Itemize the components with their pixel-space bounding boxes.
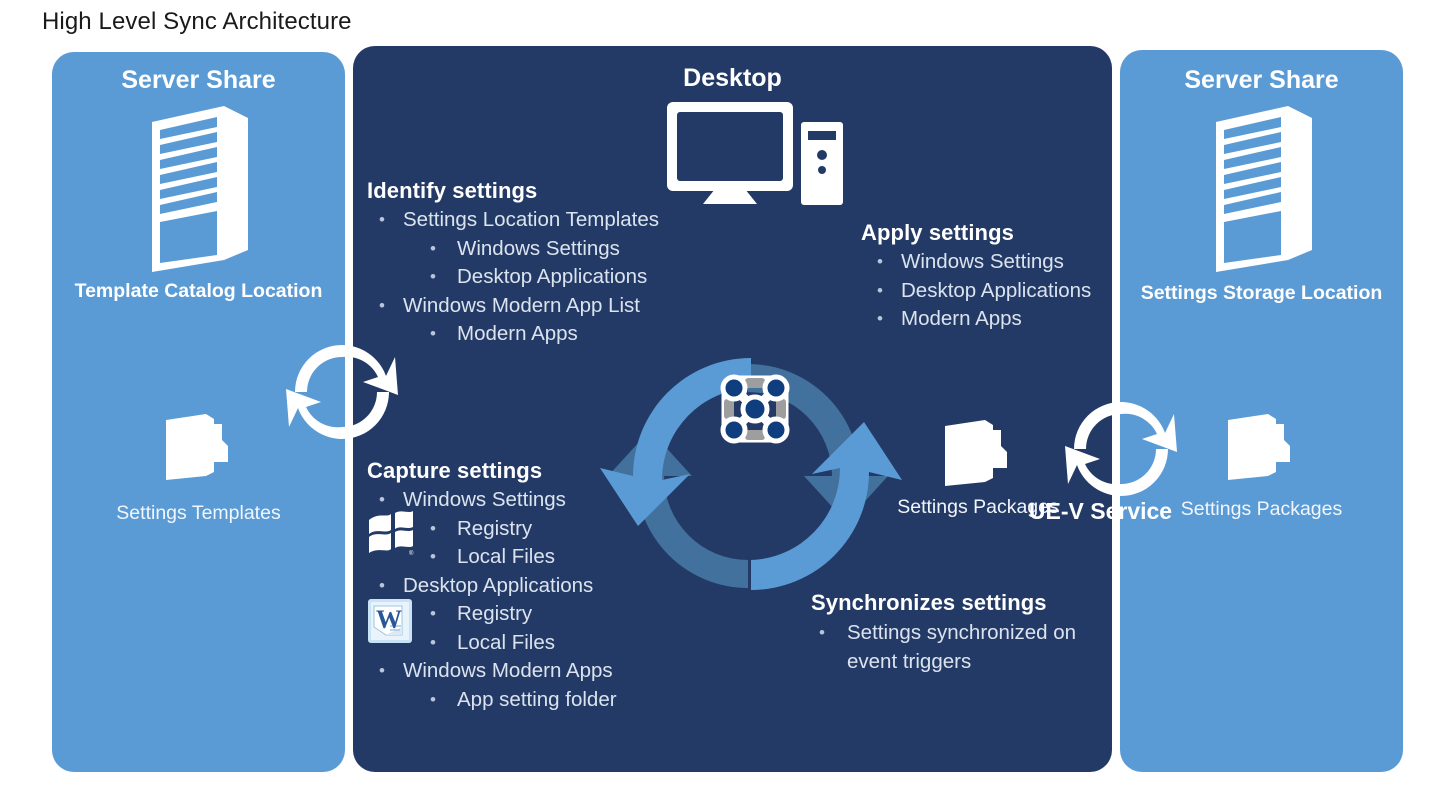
list-item: Modern Apps	[367, 320, 659, 349]
list-item: Desktop Applications	[861, 277, 1091, 306]
list-item: Registry	[367, 600, 617, 629]
block-identify-settings: Identify settings Settings Location Temp…	[367, 178, 659, 349]
block-heading: Identify settings	[367, 178, 659, 204]
left-server-caption: Template Catalog Location	[52, 280, 345, 303]
left-panel-title: Server Share	[52, 66, 345, 95]
block-list: Windows Settings Desktop Applications Mo…	[861, 248, 1091, 334]
block-heading: Apply settings	[861, 220, 1091, 246]
folder-icon	[162, 410, 238, 489]
list-item: Windows Modern Apps	[367, 657, 617, 686]
server-rack-icon	[1202, 100, 1322, 280]
list-item: Local Files	[367, 629, 617, 658]
block-capture-settings: Capture settings Windows Settings Regist…	[367, 458, 617, 714]
list-item: App setting folder	[367, 686, 617, 715]
page-title: High Level Sync Architecture	[42, 8, 352, 36]
list-item: Local Files	[367, 543, 617, 572]
list-item: Windows Settings	[861, 248, 1091, 277]
right-panel-title: Server Share	[1120, 66, 1403, 95]
folder-icon	[941, 416, 1017, 495]
desktop-computer-icon	[665, 100, 845, 210]
block-heading: Synchronizes settings	[811, 590, 1111, 616]
block-heading: Capture settings	[367, 458, 617, 484]
center-panel-title: Desktop	[353, 64, 1112, 93]
server-rack-icon	[138, 100, 258, 280]
left-folder-caption: Settings Templates	[52, 502, 345, 525]
list-item: Windows Modern App List	[367, 292, 659, 321]
list-item: Windows Settings	[367, 235, 659, 264]
block-apply-settings: Apply settings Windows Settings Desktop …	[861, 220, 1091, 334]
sync-refresh-arrows-icon-left	[283, 333, 401, 456]
sync-refresh-arrows-icon-right	[1062, 390, 1180, 513]
list-item: Registry	[367, 515, 617, 544]
block-synchronizes-settings: Synchronizes settings Settings synchroni…	[811, 590, 1111, 676]
uev-service-network-icon	[710, 364, 800, 459]
list-item: Modern Apps	[861, 305, 1091, 334]
list-item: Desktop Applications	[367, 572, 617, 601]
list-item: Windows Settings	[367, 486, 617, 515]
block-list: Settings synchronized on event triggers	[811, 618, 1111, 676]
right-server-caption: Settings Storage Location	[1120, 282, 1403, 305]
block-list: Settings Location Templates Windows Sett…	[367, 206, 659, 349]
list-item: Settings synchronized on event triggers	[811, 618, 1097, 676]
folder-icon	[1224, 410, 1300, 489]
block-list: Windows Settings Registry Local Files De…	[367, 486, 617, 714]
desktop-panel: Desktop	[353, 46, 1112, 772]
list-item: Desktop Applications	[367, 263, 659, 292]
list-item: Settings Location Templates	[367, 206, 659, 235]
